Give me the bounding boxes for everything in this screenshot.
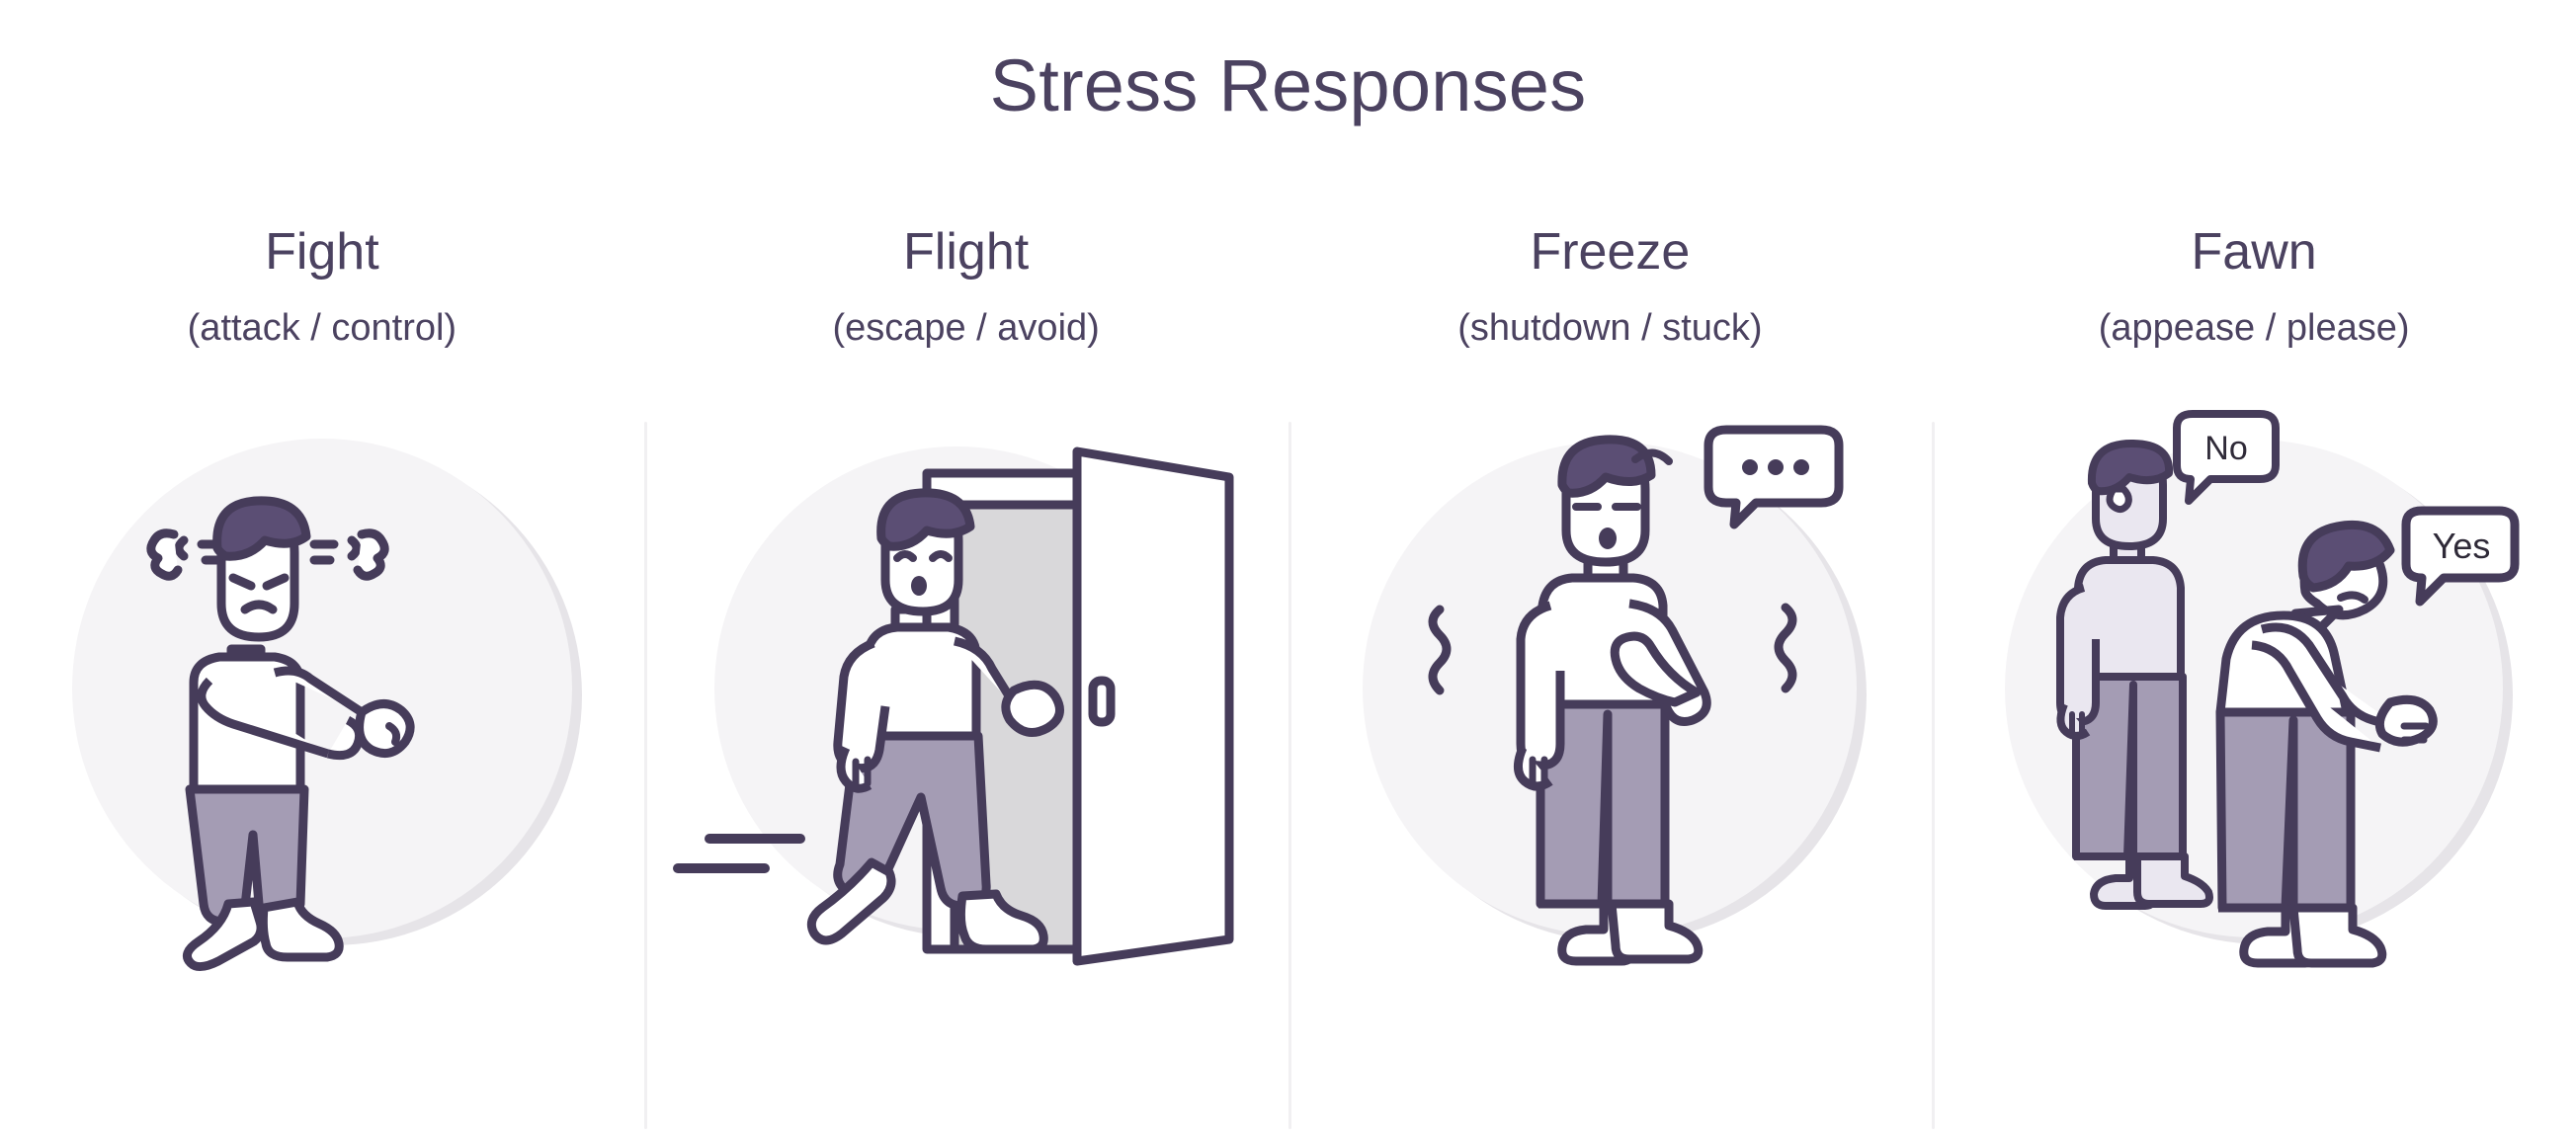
column-fight: Fight (attack / control) bbox=[0, 212, 644, 1136]
column-title-fight: Fight bbox=[265, 226, 379, 278]
freeze-illustration-svg bbox=[1313, 394, 1906, 987]
column-freeze: Freeze (shutdown / stuck) bbox=[1288, 212, 1933, 1136]
flight-illustration-svg bbox=[670, 394, 1263, 987]
fawn-illustration: No bbox=[1957, 394, 2550, 987]
column-subtitle-fight: (attack / control) bbox=[188, 309, 457, 347]
flight-illustration bbox=[670, 394, 1263, 987]
column-subtitle-flight: (escape / avoid) bbox=[832, 309, 1099, 347]
column-flight: Flight (escape / avoid) bbox=[644, 212, 1288, 1136]
column-divider-1 bbox=[644, 422, 647, 1129]
column-divider-2 bbox=[1288, 422, 1291, 1129]
column-title-freeze: Freeze bbox=[1530, 226, 1690, 278]
stress-responses-infographic: Stress Responses Fight (attack / control… bbox=[0, 0, 2576, 1136]
fawn-illustration-svg: No bbox=[1957, 394, 2550, 987]
ellipsis-dots-icon bbox=[1742, 459, 1809, 475]
response-columns: Fight (attack / control) bbox=[0, 212, 2576, 1136]
column-fawn: Fawn (appease / please) bbox=[1932, 212, 2576, 1136]
freeze-illustration bbox=[1313, 394, 1906, 987]
page-title: Stress Responses bbox=[0, 49, 2576, 122]
column-title-fawn: Fawn bbox=[2192, 226, 2317, 278]
column-subtitle-fawn: (appease / please) bbox=[2099, 309, 2410, 347]
fight-illustration bbox=[26, 394, 619, 987]
fight-illustration-svg bbox=[26, 394, 619, 987]
column-divider-3 bbox=[1932, 422, 1935, 1129]
yes-bubble-label: Yes bbox=[2433, 526, 2491, 566]
column-title-flight: Flight bbox=[903, 226, 1029, 278]
no-bubble-label: No bbox=[2204, 430, 2247, 467]
column-subtitle-freeze: (shutdown / stuck) bbox=[1457, 309, 1762, 347]
